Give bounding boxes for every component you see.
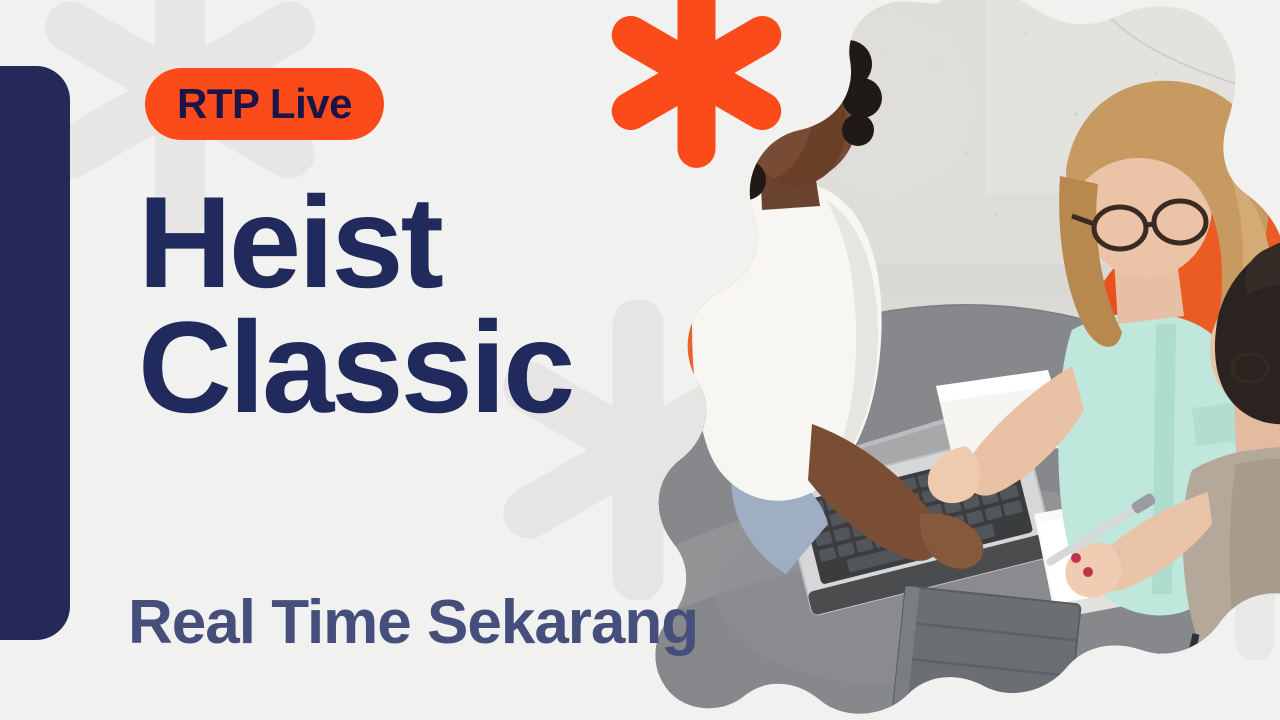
page-title: Heist Classic: [138, 180, 738, 430]
page-subtitle: Real Time Sekarang: [128, 592, 698, 654]
orange-asterisk-icon: [589, 0, 804, 168]
page-title-line-1: Heist: [138, 180, 738, 305]
navy-rounded-slab: [0, 66, 70, 640]
rtp-live-badge[interactable]: RTP Live: [145, 68, 384, 140]
page-title-line-2: Classic: [138, 305, 738, 430]
rtp-live-badge-label: RTP Live: [177, 83, 352, 125]
poster-canvas: RTP Live Heist Classic Real Time Sekaran…: [0, 0, 1280, 720]
